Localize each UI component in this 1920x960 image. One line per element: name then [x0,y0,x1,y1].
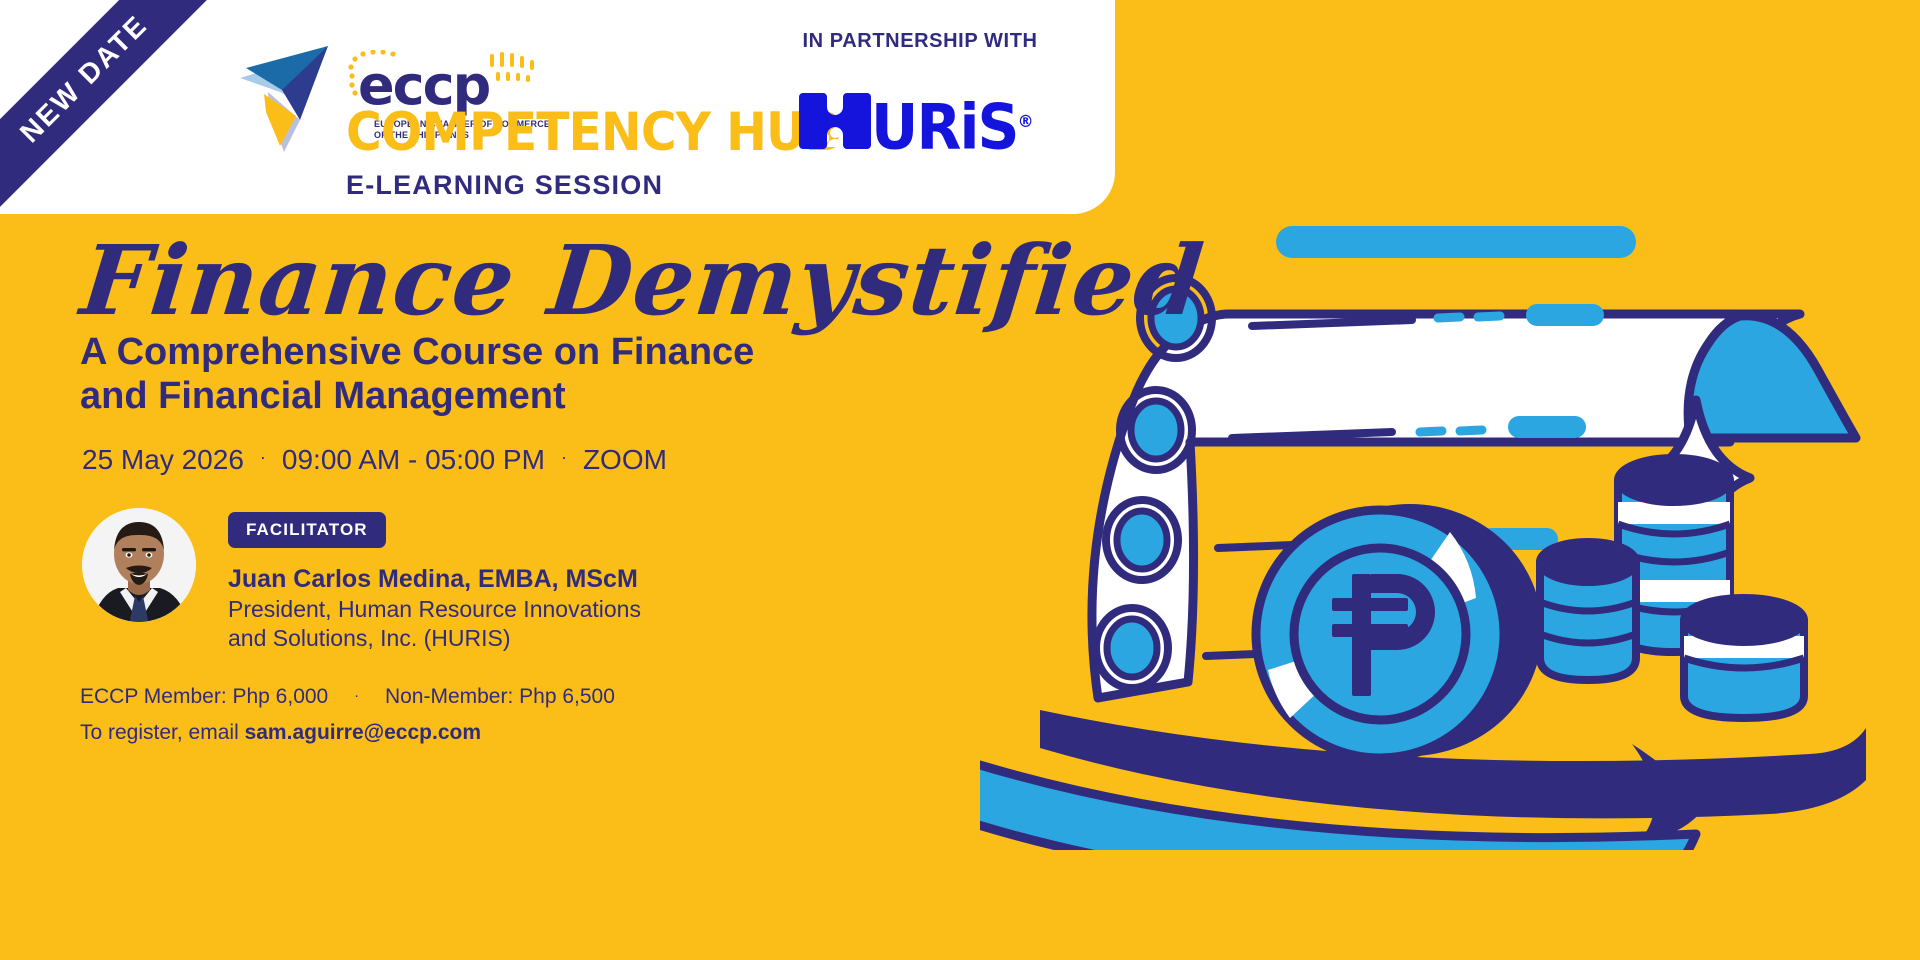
registration-prefix: To register, email [80,721,245,744]
eccp-logo-lockup: eccp EUROPEAN CHAMBER [238,28,738,190]
header-card: eccp EUROPEAN CHAMBER [0,0,1115,214]
facilitator-badge: FACILITATOR [228,512,386,548]
pricing-separator: · [334,687,379,704]
huris-h-mark-icon [799,85,871,157]
facilitator-role-line1: President, Human Resource Innovations [228,596,641,622]
facilitator-info: FACILITATOR Juan Carlos Medina, EMBA, MS… [228,508,641,653]
event-subtitle-line1: A Comprehensive Course on Finance [80,331,754,373]
huris-registered-mark: ® [1017,112,1031,132]
facilitator-block: FACILITATOR Juan Carlos Medina, EMBA, MS… [82,508,641,653]
schedule-time: 09:00 AM - 05:00 PM [282,443,545,477]
schedule-row: 25 May 2026 · 09:00 AM - 05:00 PM · ZOOM [82,443,667,477]
schedule-separator-2: · [545,440,583,474]
pricing-row: ECCP Member: Php 6,000 · Non-Member: Php… [80,682,615,714]
document-header-bar [1276,226,1636,258]
partnership-block: IN PARTNERSHIP WITH URiS® [770,30,1070,157]
registration-email-link[interactable]: sam.aguirre@eccp.com [245,721,481,744]
eccp-paper-plane-icon [238,42,336,154]
in-partnership-with-label: IN PARTNERSHIP WITH [770,30,1070,53]
huris-wordmark: URiS® [871,93,1032,157]
schedule-separator-1: · [244,440,282,474]
coin-stack-right [1684,598,1804,718]
footer-block: ECCP Member: Php 6,000 · Non-Member: Php… [80,682,615,748]
schedule-date: 25 May 2026 [82,443,244,477]
nonmember-price: Non-Member: Php 6,500 [385,685,615,708]
facilitator-role-line2: and Solutions, Inc. (HURIS) [228,625,511,651]
document-top-curl [1688,316,1856,438]
member-price: ECCP Member: Php 6,000 [80,685,328,708]
huris-wordmark-text: URiS [871,91,1018,164]
facilitator-role: President, Human Resource Innovations an… [228,595,641,653]
competency-hub-title: COMPETENCY HUB [346,106,841,159]
facilitator-avatar [82,508,196,622]
event-subtitle: A Comprehensive Course on Finance and Fi… [80,330,754,418]
huris-logo: URiS® [770,79,1070,157]
peso-coin [1256,504,1542,758]
facilitator-name: Juan Carlos Medina, EMBA, MScM [228,564,641,594]
event-script-title: Finance Demystified [76,226,1208,336]
registration-row: To register, email sam.aguirre@eccp.com [80,718,615,748]
elearning-session-label: E-LEARNING SESSION [346,170,663,201]
schedule-platform: ZOOM [583,443,667,477]
event-subtitle-line2: and Financial Management [80,375,566,417]
coin-stack-middle [1540,542,1636,680]
